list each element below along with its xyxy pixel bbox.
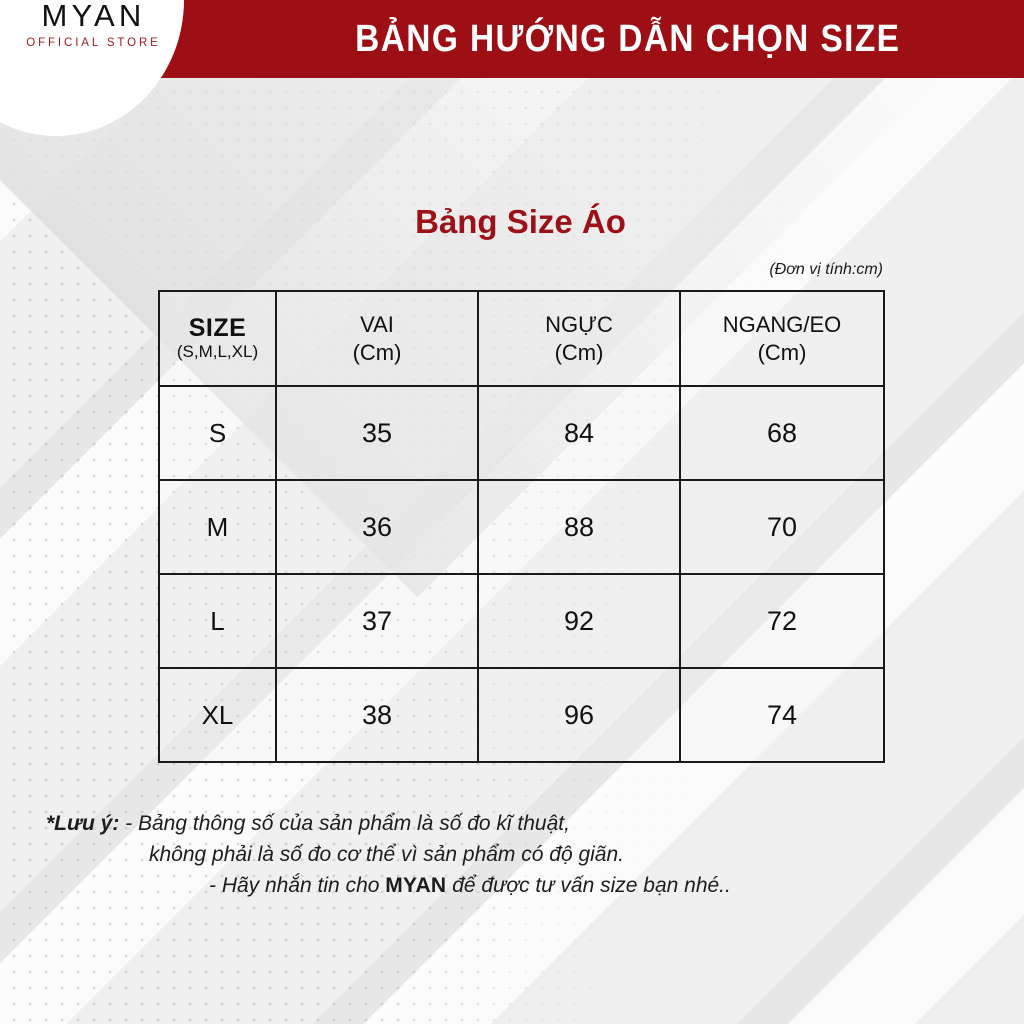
footer-note: *Lưu ý: - Bảng thông số của sản phẩm là …	[46, 808, 966, 901]
cell-vai: 37	[276, 574, 478, 668]
table-header-row: SIZE (S,M,L,XL) VAI (Cm) NGỰC (Cm) NGANG…	[159, 291, 884, 386]
size-table-head: SIZE (S,M,L,XL) VAI (Cm) NGỰC (Cm) NGANG…	[159, 291, 884, 386]
note-line-3-before: - Hãy nhắn tin cho	[209, 874, 385, 897]
column-header-ngang-eo-title: NGANG/EO	[681, 311, 883, 339]
column-header-vai-unit: (Cm)	[277, 339, 477, 367]
cell-nguc: 96	[478, 668, 680, 762]
column-header-ngang-eo-unit: (Cm)	[681, 339, 883, 367]
note-line-1: *Lưu ý: - Bảng thông số của sản phẩm là …	[46, 808, 966, 839]
cell-nguc: 84	[478, 386, 680, 480]
note-label: *Lưu ý:	[46, 812, 119, 835]
cell-nguc: 88	[478, 480, 680, 574]
note-line-2: không phải là số đo cơ thể vì sản phẩm c…	[46, 839, 966, 870]
column-header-nguc-title: NGỰC	[479, 311, 679, 339]
cell-size: S	[159, 386, 276, 480]
logo-inner: MYAN OFFICIAL STORE	[0, 0, 184, 50]
logo-brand-name: MYAN	[0, 0, 184, 31]
cell-ngang-eo: 70	[680, 480, 884, 574]
cell-size: M	[159, 480, 276, 574]
cell-vai: 35	[276, 386, 478, 480]
column-header-vai-title: VAI	[277, 311, 477, 339]
size-table: SIZE (S,M,L,XL) VAI (Cm) NGỰC (Cm) NGANG…	[158, 290, 885, 763]
cell-ngang-eo: 72	[680, 574, 884, 668]
column-header-nguc-unit: (Cm)	[479, 339, 679, 367]
size-table-body: S 35 84 68 M 36 88 70 L 37 92 72	[159, 386, 884, 762]
cell-size: XL	[159, 668, 276, 762]
logo-tagline: OFFICIAL STORE	[0, 38, 184, 50]
column-header-ngang-eo: NGANG/EO (Cm)	[680, 291, 884, 386]
cell-size: L	[159, 574, 276, 668]
table-row: M 36 88 70	[159, 480, 884, 574]
note-brand-name: MYAN	[385, 874, 446, 897]
column-header-size-subtitle: (S,M,L,XL)	[160, 342, 275, 362]
note-line-3-after: để được tư vấn size bạn nhé..	[446, 874, 730, 897]
page-title: Bảng Size Áo	[158, 205, 883, 238]
unit-note: (Đơn vị tính:cm)	[158, 262, 883, 278]
note-line-1-text: - Bảng thông số của sản phẩm là số đo kĩ…	[119, 812, 570, 835]
cell-nguc: 92	[478, 574, 680, 668]
cell-ngang-eo: 74	[680, 668, 884, 762]
table-row: L 37 92 72	[159, 574, 884, 668]
main-content: Bảng Size Áo (Đơn vị tính:cm) SIZE (S,M,…	[0, 0, 1024, 1024]
column-header-size-title: SIZE	[160, 314, 275, 342]
column-header-nguc: NGỰC (Cm)	[478, 291, 680, 386]
table-row: XL 38 96 74	[159, 668, 884, 762]
cell-vai: 38	[276, 668, 478, 762]
note-line-3: - Hãy nhắn tin cho MYAN để được tư vấn s…	[46, 870, 966, 901]
column-header-size: SIZE (S,M,L,XL)	[159, 291, 276, 386]
table-row: S 35 84 68	[159, 386, 884, 480]
cell-vai: 36	[276, 480, 478, 574]
column-header-vai: VAI (Cm)	[276, 291, 478, 386]
size-chart-page: BẢNG HƯỚNG DẪN CHỌN SIZE MYAN OFFICIAL S…	[0, 0, 1024, 1024]
cell-ngang-eo: 68	[680, 386, 884, 480]
